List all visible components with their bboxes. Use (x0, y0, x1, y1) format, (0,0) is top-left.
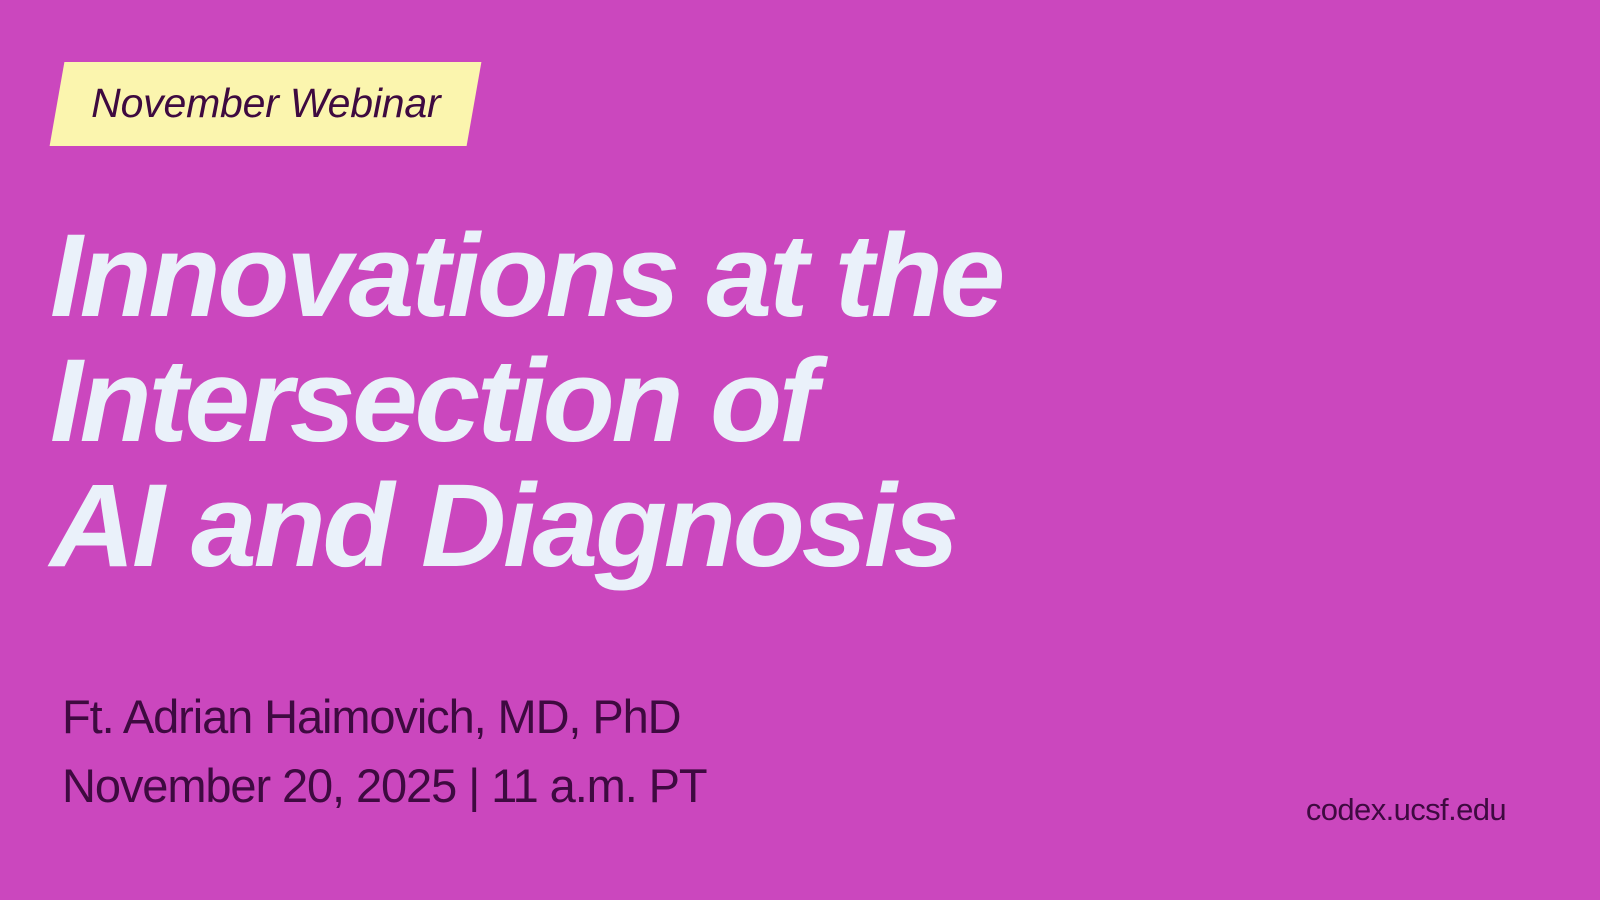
badge-shape: November Webinar (50, 62, 482, 146)
speaker-line: Ft. Adrian Haimovich, MD, PhD (62, 682, 707, 751)
headline-line-2: Intersection of (50, 339, 1002, 464)
badge-label: November Webinar (91, 70, 440, 136)
headline-line-3: AI and Diagnosis (50, 464, 1002, 589)
site-url[interactable]: codex.ucsf.edu (1306, 792, 1506, 828)
headline-line-1: Innovations at the (50, 214, 1002, 339)
page-title: Innovations at the Intersection of AI an… (50, 214, 1002, 589)
webinar-badge: November Webinar (57, 62, 474, 146)
webinar-promo-poster: November Webinar Innovations at the Inte… (0, 0, 1600, 900)
event-details: Ft. Adrian Haimovich, MD, PhD November 2… (62, 682, 707, 820)
date-time-line: November 20, 2025 | 11 a.m. PT (62, 751, 707, 820)
